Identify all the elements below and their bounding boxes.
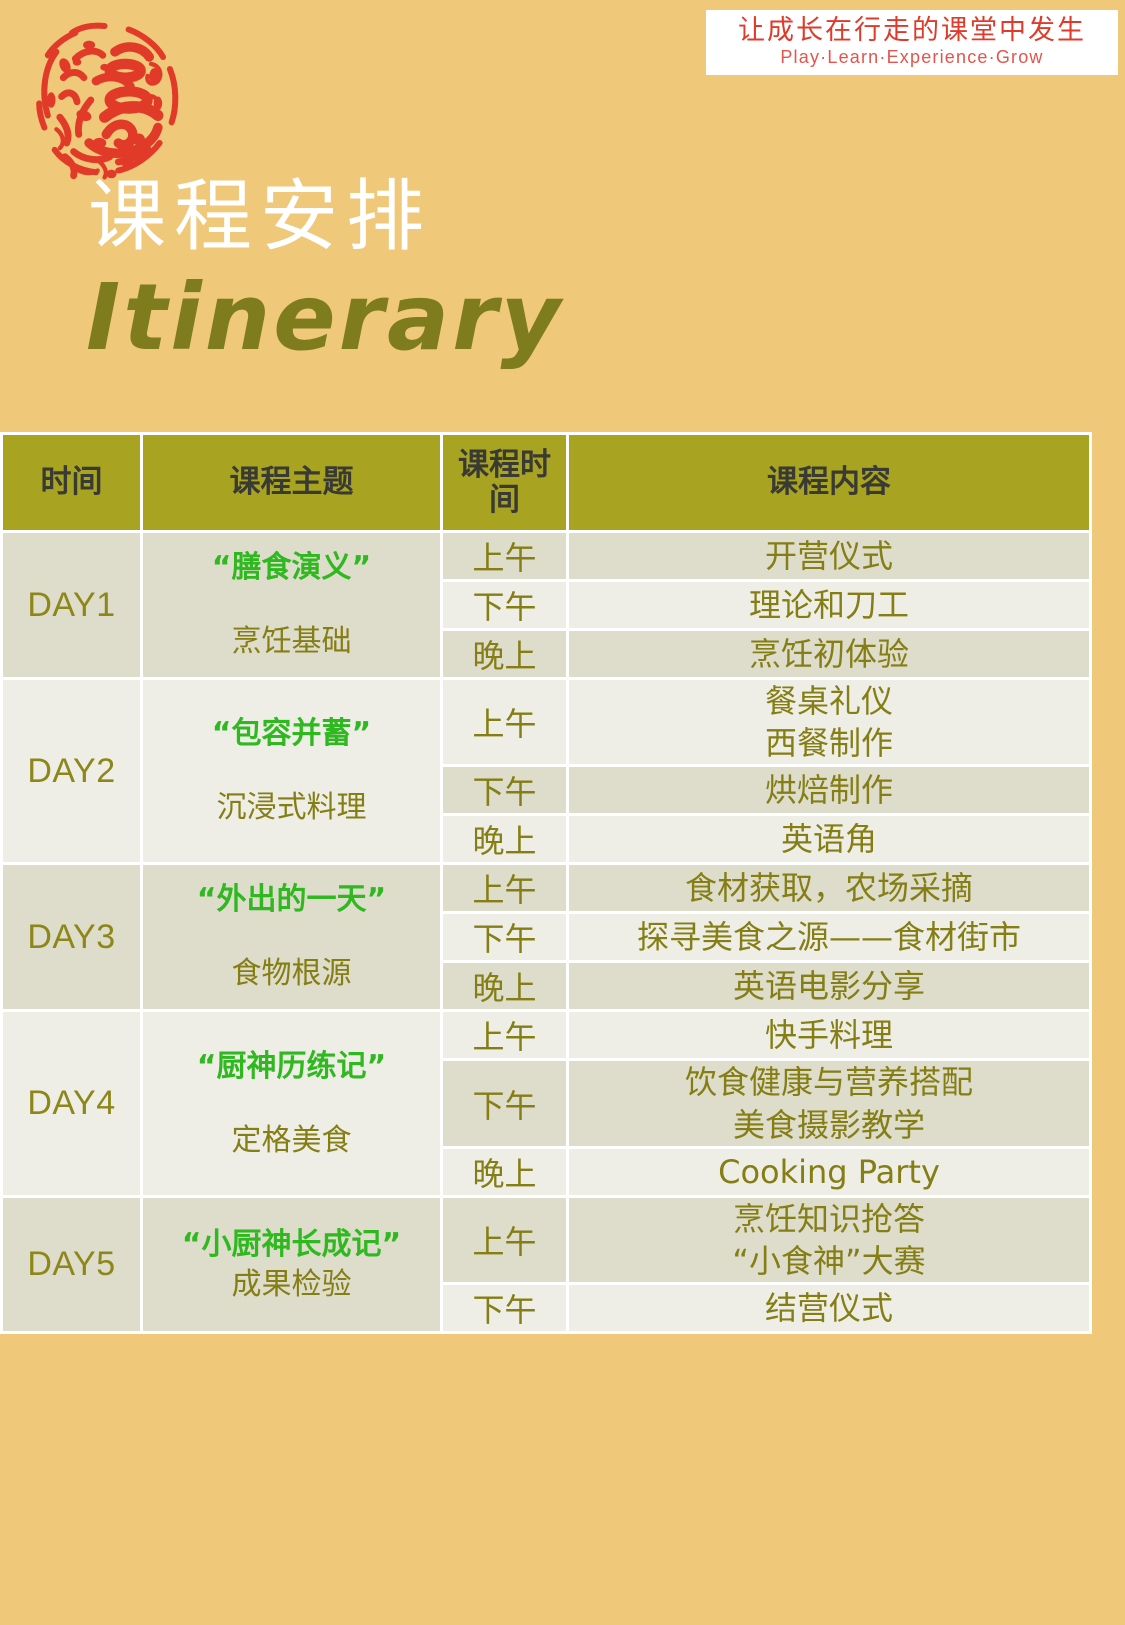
theme-subtitle: 成果检验 xyxy=(143,1267,440,1303)
column-header-slot: 课程时间 xyxy=(443,435,566,530)
session-detail-line: 探寻美食之源——食材街市 xyxy=(569,916,1089,958)
itinerary-table: 时间 课程主题 课程时间 课程内容 DAY1“膳食演义”烹饪基础上午开营仪式下午… xyxy=(0,432,1092,1334)
theme-subtitle: 定格美食 xyxy=(143,1123,440,1159)
session-detail-line: 餐桌礼仪 xyxy=(569,680,1089,722)
theme-title: “厨神历练记” xyxy=(143,1049,440,1085)
session-slot: 晚上 xyxy=(443,816,566,862)
session-detail: 烘焙制作 xyxy=(569,767,1089,813)
theme-title: “小厨神长成记” xyxy=(143,1227,440,1263)
session-slot: 晚上 xyxy=(443,631,566,677)
day-label: DAY5 xyxy=(3,1198,140,1331)
session-detail: 烹饪初体验 xyxy=(569,631,1089,677)
session-detail-line: 英语电影分享 xyxy=(569,965,1089,1007)
table-header-row: 时间 课程主题 课程时间 课程内容 xyxy=(3,435,1089,530)
session-detail-line: 开营仪式 xyxy=(569,535,1089,577)
session-slot: 晚上 xyxy=(443,963,566,1009)
session-detail-line: 结营仪式 xyxy=(569,1287,1089,1329)
theme-title: “外出的一天” xyxy=(143,882,440,918)
theme-cell: “包容并蓄”沉浸式料理 xyxy=(143,680,440,862)
day-label: DAY2 xyxy=(3,680,140,862)
table-row: DAY3“外出的一天”食物根源上午食材获取，农场采摘 xyxy=(3,865,1089,911)
theme-cell: “小厨神长成记”成果检验 xyxy=(143,1198,440,1331)
session-detail-line: 快手料理 xyxy=(569,1014,1089,1056)
session-detail: 饮食健康与营养搭配美食摄影教学 xyxy=(569,1061,1089,1145)
day-label: DAY3 xyxy=(3,865,140,1009)
table-row: DAY5“小厨神长成记”成果检验上午烹饪知识抢答“小食神”大赛 xyxy=(3,1198,1089,1282)
session-detail: 快手料理 xyxy=(569,1012,1089,1058)
session-detail-line: 烘焙制作 xyxy=(569,769,1089,811)
session-detail: 食材获取，农场采摘 xyxy=(569,865,1089,911)
theme-subtitle: 沉浸式料理 xyxy=(143,790,440,826)
table-row: DAY4“厨神历练记”定格美食上午快手料理 xyxy=(3,1012,1089,1058)
session-detail: 结营仪式 xyxy=(569,1285,1089,1331)
table-row: DAY1“膳食演义”烹饪基础上午开营仪式 xyxy=(3,533,1089,579)
theme-subtitle: 烹饪基础 xyxy=(143,624,440,660)
column-header-time: 时间 xyxy=(3,435,140,530)
session-detail-line: 美食摄影教学 xyxy=(569,1104,1089,1146)
column-header-theme: 课程主题 xyxy=(143,435,440,530)
table-header: 时间 课程主题 课程时间 课程内容 xyxy=(3,435,1089,530)
day-label: DAY1 xyxy=(3,533,140,677)
column-header-detail: 课程内容 xyxy=(569,435,1089,530)
red-globe-brushstroke-logo xyxy=(22,14,194,186)
session-slot: 晚上 xyxy=(443,1149,566,1195)
session-detail: 餐桌礼仪西餐制作 xyxy=(569,680,1089,764)
theme-title: “膳食演义” xyxy=(143,550,440,586)
session-detail-line: 烹饪知识抢答 xyxy=(569,1198,1089,1240)
itinerary-table-wrapper: 时间 课程主题 课程时间 课程内容 DAY1“膳食演义”烹饪基础上午开营仪式下午… xyxy=(0,432,1088,1334)
page-title-chinese: 课程安排 xyxy=(88,178,432,256)
session-slot: 下午 xyxy=(443,914,566,960)
table-row: DAY2“包容并蓄”沉浸式料理上午餐桌礼仪西餐制作 xyxy=(3,680,1089,764)
theme-cell: “外出的一天”食物根源 xyxy=(143,865,440,1009)
session-detail: 开营仪式 xyxy=(569,533,1089,579)
page-header: 让成长在行走的课堂中发生 Play·Learn·Experience·Grow … xyxy=(0,0,1125,420)
session-detail-line: 烹饪初体验 xyxy=(569,633,1089,675)
session-detail-line: Cooking Party xyxy=(569,1151,1089,1193)
session-detail-line: 英语角 xyxy=(569,818,1089,860)
session-slot: 上午 xyxy=(443,865,566,911)
session-slot: 上午 xyxy=(443,1012,566,1058)
session-slot: 下午 xyxy=(443,1061,566,1145)
session-slot: 下午 xyxy=(443,582,566,628)
day-label: DAY4 xyxy=(3,1012,140,1194)
session-slot: 下午 xyxy=(443,1285,566,1331)
session-detail-line: 理论和刀工 xyxy=(569,584,1089,626)
tagline-banner: 让成长在行走的课堂中发生 Play·Learn·Experience·Grow xyxy=(706,10,1118,75)
session-detail: 英语电影分享 xyxy=(569,963,1089,1009)
session-slot: 下午 xyxy=(443,767,566,813)
session-detail-line: 食材获取，农场采摘 xyxy=(569,867,1089,909)
session-detail-line: “小食神”大赛 xyxy=(569,1240,1089,1282)
session-slot: 上午 xyxy=(443,680,566,764)
theme-title: “包容并蓄” xyxy=(143,716,440,752)
session-slot: 上午 xyxy=(443,1198,566,1282)
session-detail-line: 西餐制作 xyxy=(569,722,1089,764)
session-detail-line: 饮食健康与营养搭配 xyxy=(569,1061,1089,1103)
tagline-chinese: 让成长在行走的课堂中发生 xyxy=(712,15,1112,46)
theme-subtitle: 食物根源 xyxy=(143,956,440,992)
session-slot: 上午 xyxy=(443,533,566,579)
table-body: DAY1“膳食演义”烹饪基础上午开营仪式下午理论和刀工晚上烹饪初体验DAY2“包… xyxy=(3,533,1089,1331)
session-detail: 探寻美食之源——食材街市 xyxy=(569,914,1089,960)
theme-cell: “膳食演义”烹饪基础 xyxy=(143,533,440,677)
session-detail: 烹饪知识抢答“小食神”大赛 xyxy=(569,1198,1089,1282)
tagline-english: Play·Learn·Experience·Grow xyxy=(712,47,1112,69)
session-detail: 理论和刀工 xyxy=(569,582,1089,628)
session-detail: 英语角 xyxy=(569,816,1089,862)
theme-cell: “厨神历练记”定格美食 xyxy=(143,1012,440,1194)
session-detail: Cooking Party xyxy=(569,1149,1089,1195)
page-title-english: Itinerary xyxy=(86,272,563,364)
